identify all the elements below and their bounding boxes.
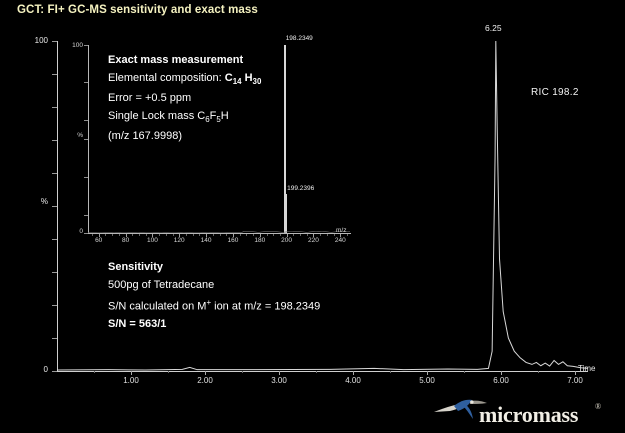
elemental-composition-prefix: Elemental composition: (108, 72, 225, 84)
inset-x-tick-minor (173, 234, 174, 236)
formula-hydrogen-count: 30 (253, 77, 262, 86)
inset-y-tick (84, 120, 88, 121)
y-axis-label-min: 0 (14, 365, 48, 374)
sn-calc-prefix: S/N calculated on M (108, 301, 206, 313)
micromass-logo: micromass ® (432, 398, 612, 430)
sn-calc-suffix: ion at m/z = 198.2349 (211, 301, 320, 313)
x-axis-label: 5.00 (419, 376, 435, 385)
logo-wordmark: micromass (479, 402, 578, 428)
formula-hydrogen: H (245, 72, 253, 84)
inset-y-tick (84, 233, 88, 234)
inset-x-tick-minor (226, 234, 227, 236)
inset-x-tick-minor (193, 234, 194, 236)
inset-x-tick-minor (159, 234, 160, 236)
inset-x-tick-minor (105, 234, 106, 236)
inset-x-tick-minor (253, 234, 254, 236)
inset-x-tick-label: 140 (201, 237, 212, 244)
inset-peak-bar (286, 194, 287, 234)
inset-x-tick-label: 100 (147, 237, 158, 244)
inset-x-tick-minor (166, 234, 167, 236)
inset-x-tick-minor (119, 234, 120, 236)
presentation-slide: GCT: FI+ GC-MS sensitivity and exact mas… (0, 0, 625, 433)
sample-amount-line: 500pg of Tetradecane (108, 277, 320, 295)
inset-baseline-noise (88, 230, 351, 233)
exact-mass-heading: Exact mass measurement (108, 52, 261, 70)
inset-y-tick (84, 45, 88, 46)
inset-x-tick-label: 180 (254, 237, 265, 244)
x-axis-label: 2.00 (197, 376, 213, 385)
inset-y-tick (84, 177, 88, 178)
sn-result-line: S/N = 563/1 (108, 316, 320, 334)
inset-peak-label: 199.2396 (287, 185, 314, 192)
inset-y-tick (84, 82, 88, 83)
formula-carbon: C (225, 72, 233, 84)
inset-x-tick-minor (300, 234, 301, 236)
inset-x-tick-label: 60 (95, 237, 102, 244)
error-line: Error = +0.5 ppm (108, 90, 261, 108)
inset-x-tick-minor (220, 234, 221, 236)
inset-x-tick-minor (112, 234, 113, 236)
inset-x-tick-label: 160 (227, 237, 238, 244)
slide-title: GCT: FI+ GC-MS sensitivity and exact mas… (17, 4, 258, 16)
peak-retention-time-label: 6.25 (485, 23, 502, 33)
inset-x-tick-minor (199, 234, 200, 236)
inset-x-tick-minor (139, 234, 140, 236)
y-axis-label-max: 100 (14, 36, 48, 45)
inset-x-tick-minor (146, 234, 147, 236)
x-axis-label: 6.00 (493, 376, 509, 385)
x-axis-label: 3.00 (271, 376, 287, 385)
inset-peak-label: 198.2349 (286, 35, 313, 42)
inset-x-tick-minor (334, 234, 335, 236)
registered-trademark-icon: ® (595, 402, 601, 411)
inset-x-tick-minor (240, 234, 241, 236)
formula-carbon-count: 14 (233, 77, 242, 86)
inset-x-tick-minor (132, 234, 133, 236)
x-axis-label: 4.00 (345, 376, 361, 385)
inset-x-tick-minor (246, 234, 247, 236)
ric-trace-label: RIC 198.2 (531, 87, 579, 98)
inset-x-tick-label: 240 (335, 237, 346, 244)
lock-mass-line: Single Lock mass C6F5H (108, 108, 261, 129)
inset-y-tick (84, 139, 88, 140)
inset-x-tick-minor (92, 234, 93, 236)
inset-x-tick-minor (280, 234, 281, 236)
inset-x-tick-minor (307, 234, 308, 236)
inset-y-axis (88, 45, 89, 233)
elemental-composition-line: Elemental composition: C14 H30 (108, 70, 261, 91)
inset-x-tick-label: 80 (122, 237, 129, 244)
lock-mass-hydrogen: H (221, 110, 229, 122)
inset-x-tick-minor (320, 234, 321, 236)
inset-x-tick-minor (213, 234, 214, 236)
exact-mass-text-block: Exact mass measurement Elemental composi… (108, 52, 261, 146)
inset-x-tick-minor (327, 234, 328, 236)
inset-x-tick-minor (293, 234, 294, 236)
inset-x-tick-label: 200 (281, 237, 292, 244)
inset-y-tick (84, 215, 88, 216)
lock-mass-mz-line: (m/z 167.9998) (108, 128, 261, 146)
inset-y-label-max: 100 (63, 42, 83, 49)
inset-x-tick-minor (347, 234, 348, 236)
x-axis-label: 7.00 (567, 376, 583, 385)
y-axis-label-percent: % (14, 197, 48, 206)
sensitivity-heading: Sensitivity (108, 259, 320, 277)
inset-x-tick-minor (186, 234, 187, 236)
sensitivity-text-block: Sensitivity 500pg of Tetradecane S/N cal… (108, 259, 320, 334)
inset-x-tick-label: 120 (174, 237, 185, 244)
inset-y-label-percent: % (63, 132, 83, 139)
inset-x-tick-label: 220 (308, 237, 319, 244)
x-axis-label: 1.00 (123, 376, 139, 385)
inset-y-label-min: 0 (63, 228, 83, 235)
lock-mass-prefix: Single Lock mass C (108, 110, 205, 122)
sn-calculation-line: S/N calculated on M+ ion at m/z = 198.23… (108, 294, 320, 316)
inset-x-tick-minor (273, 234, 274, 236)
inset-x-tick-minor (267, 234, 268, 236)
inset-x-axis-title-mz: m/z (336, 227, 346, 234)
